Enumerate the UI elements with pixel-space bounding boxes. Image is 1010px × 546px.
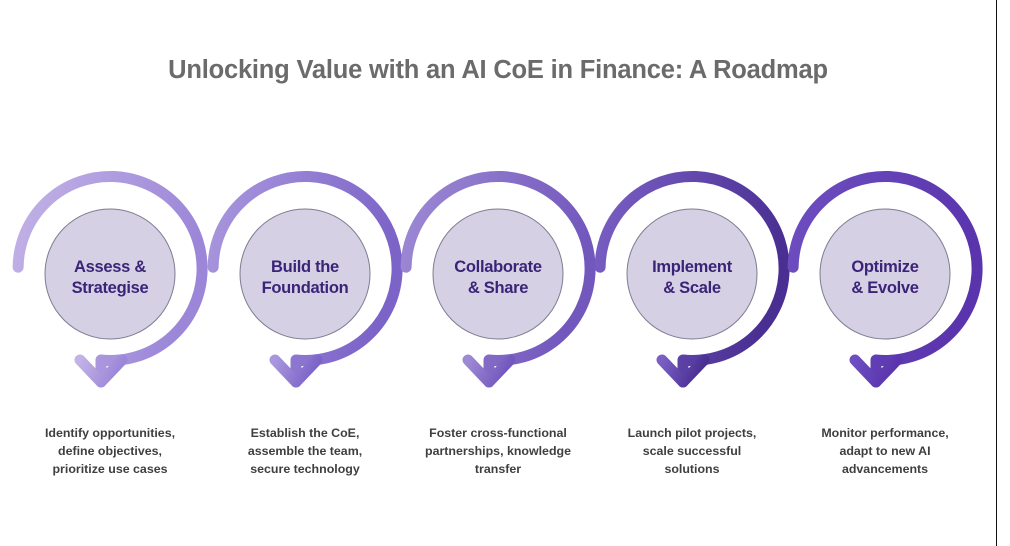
step-label-1-line2: Strategise	[72, 279, 149, 297]
step-caption-3-line1: Foster cross-functional	[405, 424, 591, 442]
step-caption-3-line3: transfer	[405, 460, 591, 478]
step-caption-2-line1: Establish the CoE,	[212, 424, 398, 442]
step-caption-1-line2: define objectives,	[17, 442, 203, 460]
step-caption-1-line1: Identify opportunities,	[17, 424, 203, 442]
step-label-4-line2: & Scale	[663, 279, 721, 297]
step-caption-3: Foster cross-functionalpartnerships, kno…	[405, 424, 591, 478]
step-label-2-line1: Build the	[271, 258, 339, 276]
step-caption-4: Launch pilot projects,scale successfulso…	[599, 424, 785, 478]
step-caption-4-line2: scale successful	[599, 442, 785, 460]
step-label-3-line2: & Share	[468, 279, 528, 297]
step-caption-2-line3: secure technology	[212, 460, 398, 478]
step-caption-5-line2: adapt to new AI	[792, 442, 978, 460]
step-caption-1-line3: prioritize use cases	[17, 460, 203, 478]
step-label-1-line1: Assess &	[74, 258, 146, 276]
infographic-canvas: Unlocking Value with an AI CoE in Financ…	[0, 0, 1010, 546]
right-edge-band	[997, 0, 1010, 546]
step-caption-5-line3: advancements	[792, 460, 978, 478]
step-caption-4-line1: Launch pilot projects,	[599, 424, 785, 442]
step-label-3-line1: Collaborate	[454, 258, 542, 276]
step-caption-4-line3: solutions	[599, 460, 785, 478]
step-caption-5-line1: Monitor performance,	[792, 424, 978, 442]
step-caption-2: Establish the CoE,assemble the team,secu…	[212, 424, 398, 478]
step-caption-1: Identify opportunities,define objectives…	[17, 424, 203, 478]
step-label-2-line2: Foundation	[262, 279, 349, 297]
step-label-4-line1: Implement	[652, 258, 733, 276]
step-label-5-line2: & Evolve	[851, 279, 918, 297]
step-label-5-line1: Optimize	[851, 258, 918, 276]
step-caption-5: Monitor performance,adapt to new AIadvan…	[792, 424, 978, 478]
step-caption-3-line2: partnerships, knowledge	[405, 442, 591, 460]
step-caption-2-line2: assemble the team,	[212, 442, 398, 460]
